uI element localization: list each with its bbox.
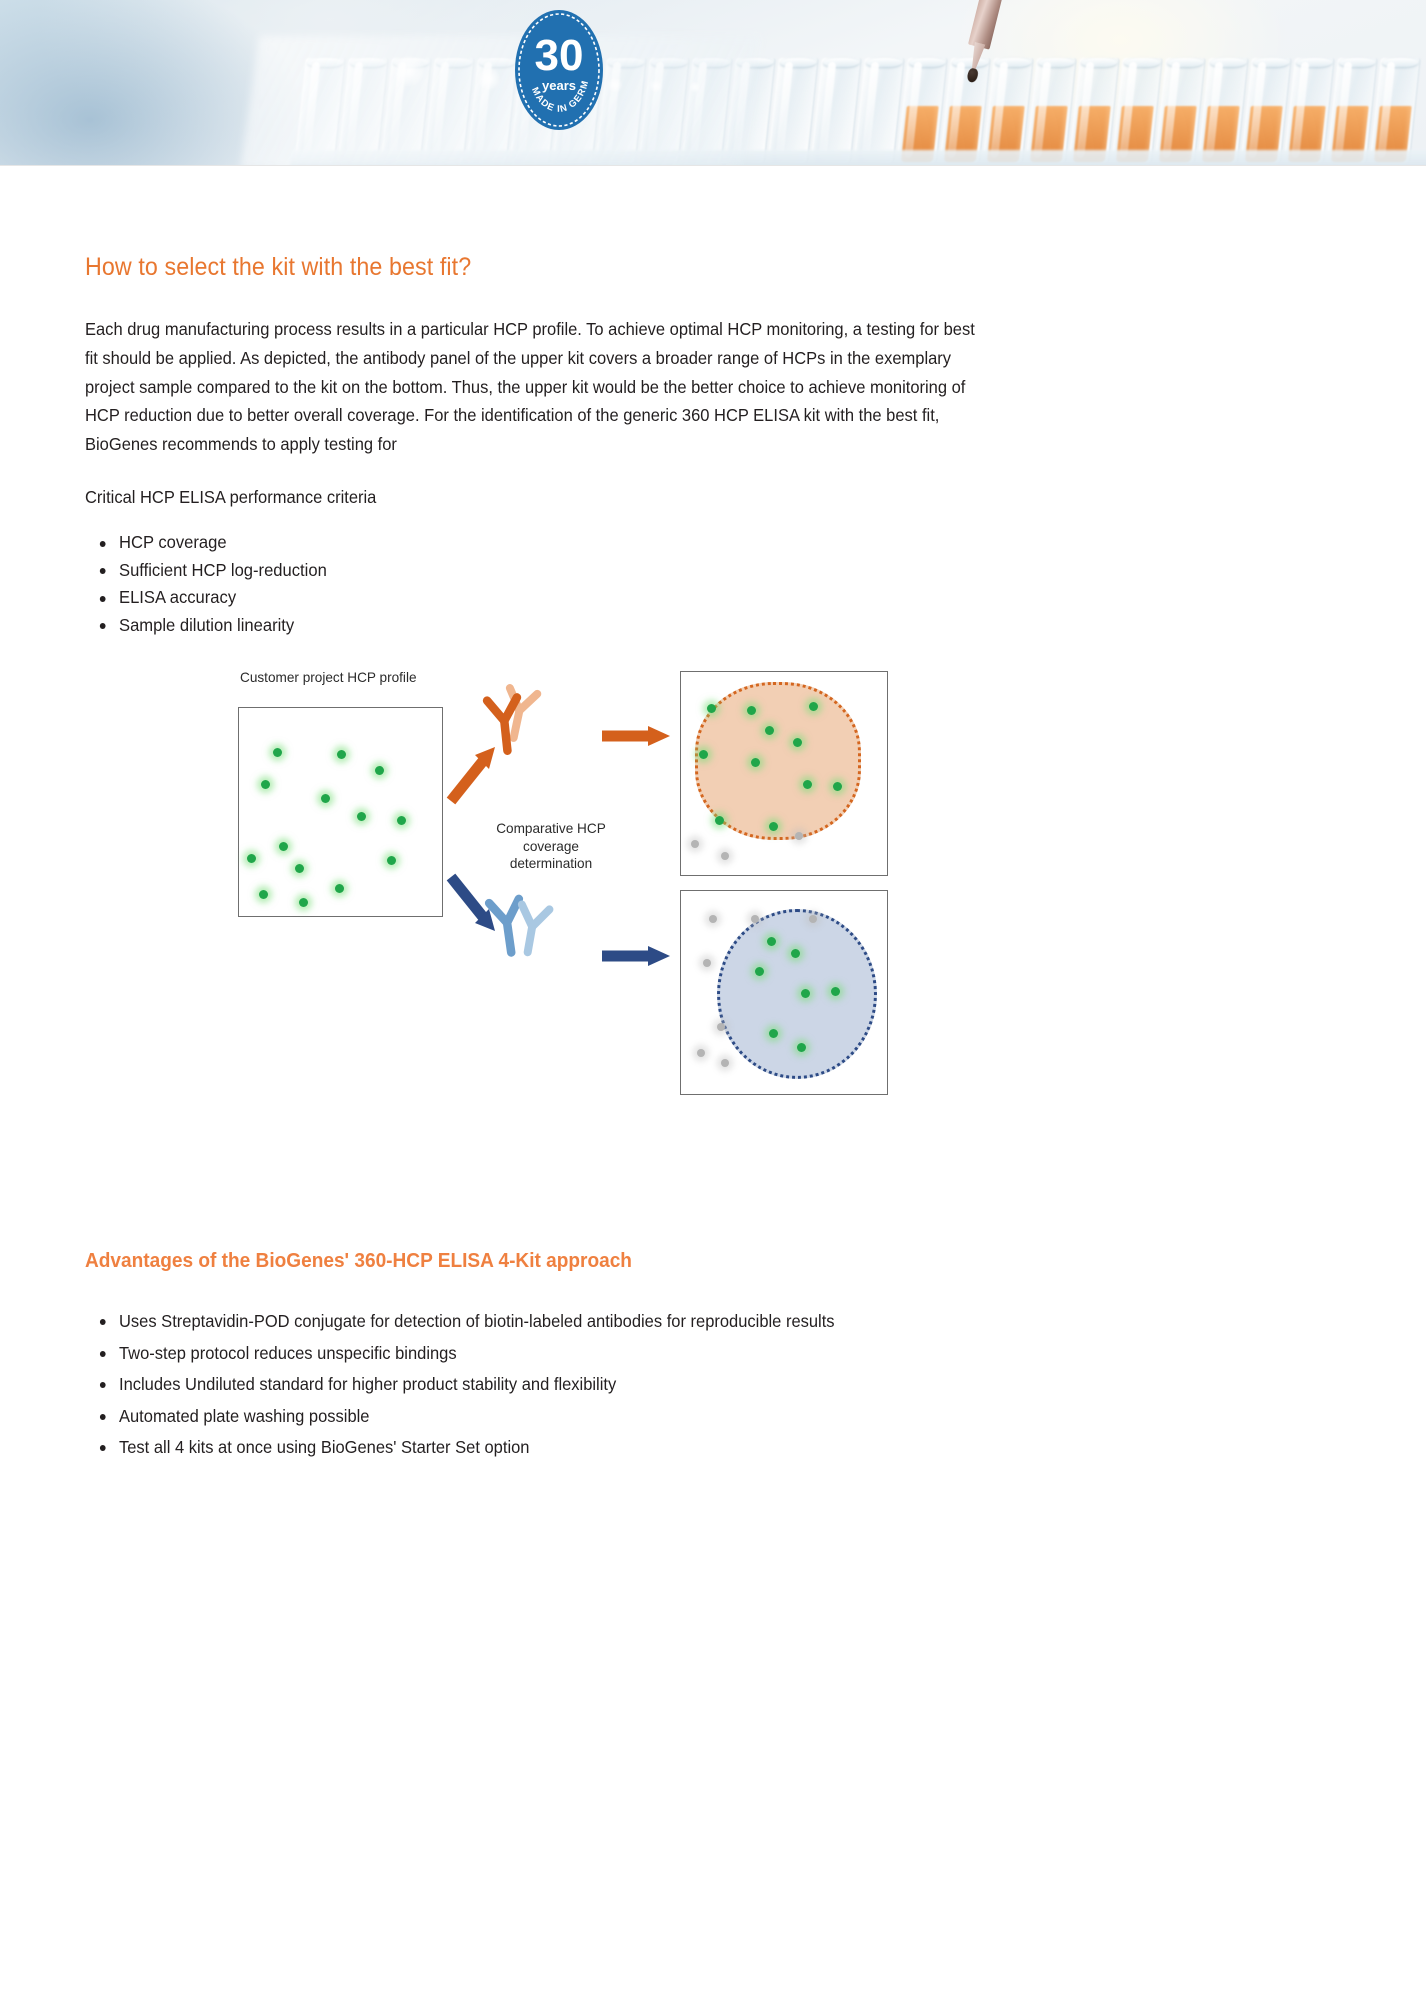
hcp-dot bbox=[247, 854, 256, 863]
hcp-dot-covered bbox=[707, 704, 716, 713]
antibody-panel-orange-icon bbox=[482, 683, 578, 761]
hcp-dot-uncovered bbox=[709, 915, 717, 923]
page-title: How to select the kit with the best fit? bbox=[85, 253, 471, 282]
hcp-dot-covered bbox=[833, 782, 842, 791]
antibody-panel-blue-icon bbox=[482, 887, 578, 965]
list-item: Includes Undiluted standard for higher p… bbox=[119, 1369, 835, 1401]
badge-years-label: years bbox=[542, 78, 576, 93]
intro-paragraph: Each drug manufacturing process results … bbox=[85, 315, 975, 459]
hcp-dot-uncovered bbox=[721, 852, 729, 860]
coverage-panel-orange bbox=[680, 671, 888, 876]
hcp-dot-uncovered bbox=[697, 1049, 705, 1057]
hcp-dot bbox=[259, 890, 268, 899]
list-item: Sufficient HCP log-reduction bbox=[119, 557, 327, 585]
hcp-dot bbox=[387, 856, 396, 865]
hcp-coverage-diagram: Customer project HCP profile Comparative… bbox=[230, 675, 910, 1135]
hcp-dot-covered bbox=[715, 816, 724, 825]
diagram-label-customer-profile: Customer project HCP profile bbox=[240, 669, 440, 687]
hcp-dot-covered bbox=[803, 780, 812, 789]
hcp-dot-covered bbox=[769, 1029, 778, 1038]
list-item: Sample dilution linearity bbox=[119, 612, 327, 640]
hcp-dot bbox=[279, 842, 288, 851]
criteria-lead-text: Critical HCP ELISA performance criteria bbox=[85, 483, 376, 511]
coverage-blob-blue bbox=[717, 909, 877, 1079]
hcp-dot-uncovered bbox=[795, 832, 803, 840]
hcp-dot bbox=[321, 794, 330, 803]
hcp-dot bbox=[375, 766, 384, 775]
anniversary-badge-icon: 30 years MADE IN GERMANY bbox=[513, 8, 605, 132]
coverage-panel-blue bbox=[680, 890, 888, 1095]
arrow-blue-to-panel-icon bbox=[600, 943, 672, 969]
diagram-label-comparative: Comparative HCP coverage determination bbox=[491, 820, 611, 873]
hcp-dot-covered bbox=[769, 822, 778, 831]
hcp-dot-covered bbox=[831, 987, 840, 996]
hcp-dot bbox=[337, 750, 346, 759]
list-item: ELISA accuracy bbox=[119, 584, 327, 612]
hcp-dot bbox=[261, 780, 270, 789]
list-item: Automated plate washing possible bbox=[119, 1401, 835, 1433]
list-item: Uses Streptavidin-POD conjugate for dete… bbox=[119, 1306, 835, 1338]
hcp-dot-covered bbox=[791, 949, 800, 958]
hcp-dot bbox=[299, 898, 308, 907]
hcp-dot-uncovered bbox=[809, 915, 817, 923]
hcp-dot-covered bbox=[809, 702, 818, 711]
hcp-dot bbox=[335, 884, 344, 893]
hcp-dot-uncovered bbox=[703, 959, 711, 967]
list-item: HCP coverage bbox=[119, 529, 327, 557]
hcp-dot-covered bbox=[793, 738, 802, 747]
banner-divider bbox=[0, 165, 1426, 166]
arrow-orange-to-panel-icon bbox=[600, 723, 672, 749]
advantages-list: Uses Streptavidin-POD conjugate for dete… bbox=[85, 1306, 868, 1464]
hcp-dot-covered bbox=[765, 726, 774, 735]
hcp-dot bbox=[273, 748, 282, 757]
badge-number: 30 bbox=[535, 31, 584, 80]
list-item: Test all 4 kits at once using BioGenes' … bbox=[119, 1432, 835, 1464]
hcp-dot-covered bbox=[797, 1043, 806, 1052]
blurred-foreground bbox=[241, 36, 760, 165]
hcp-dot bbox=[397, 816, 406, 825]
hcp-dot-uncovered bbox=[751, 915, 759, 923]
advantages-title: Advantages of the BioGenes' 360-HCP ELIS… bbox=[85, 1249, 632, 1273]
hcp-dot-uncovered bbox=[721, 1059, 729, 1067]
hcp-dot-covered bbox=[751, 758, 760, 767]
hcp-dot-uncovered bbox=[691, 840, 699, 848]
header-banner: 30 years MADE IN GERMANY bbox=[0, 0, 1426, 165]
hcp-dot-covered bbox=[747, 706, 756, 715]
hcp-dot-covered bbox=[755, 967, 764, 976]
criteria-list: HCP coverage Sufficient HCP log-reductio… bbox=[85, 529, 335, 639]
list-item: Two-step protocol reduces unspecific bin… bbox=[119, 1338, 835, 1370]
hcp-dot-covered bbox=[801, 989, 810, 998]
hcp-dot-uncovered bbox=[717, 1023, 725, 1031]
hcp-dot bbox=[295, 864, 304, 873]
hcp-profile-box bbox=[238, 707, 443, 917]
hcp-dot bbox=[357, 812, 366, 821]
hcp-dot-covered bbox=[699, 750, 708, 759]
hcp-dot-covered bbox=[767, 937, 776, 946]
